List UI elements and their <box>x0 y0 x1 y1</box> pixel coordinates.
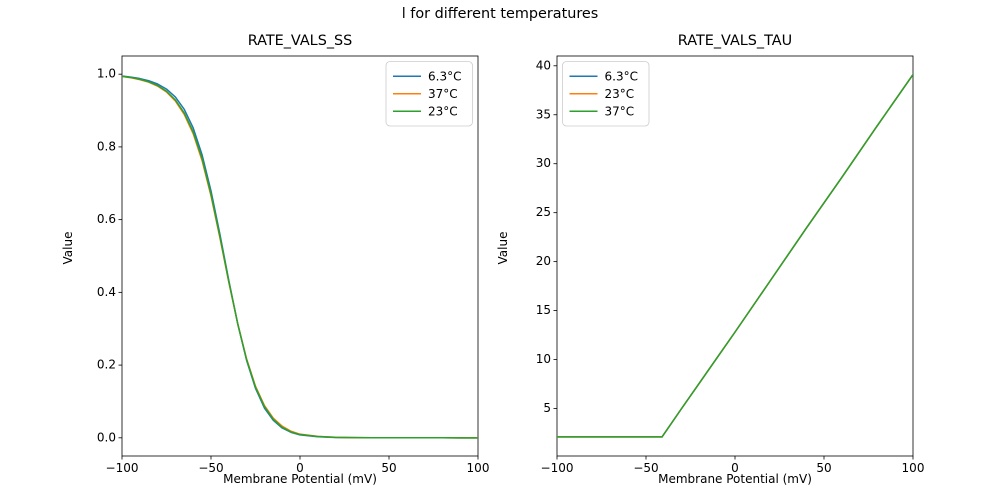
legend-label: 37°C <box>428 87 458 101</box>
series-line-23C <box>557 75 913 437</box>
data-lines <box>557 75 913 437</box>
legend-ss[interactable]: 6.3°C37°C23°C <box>386 62 473 127</box>
axes-title-ss: RATE_VALS_SS <box>122 33 478 49</box>
ytick-label: 5 <box>543 401 551 415</box>
data-lines <box>122 76 478 438</box>
ytick-label: 35 <box>536 107 551 121</box>
ytick-label: 0.8 <box>97 139 116 153</box>
ytick-label: 0.2 <box>97 358 116 372</box>
series-line-37C <box>557 75 913 437</box>
ytick-label: 0.6 <box>97 212 116 226</box>
yaxis-label-ss: Value <box>61 98 75 398</box>
legend-label: 6.3°C <box>428 69 461 83</box>
ytick-label: 20 <box>536 254 551 268</box>
matplotlib-figure: l for different temperatures RATE_VALS_S… <box>0 0 1000 500</box>
series-line-6.3C <box>122 76 478 438</box>
series-line-37C <box>122 76 478 437</box>
ytick-label: 0.4 <box>97 285 116 299</box>
ytick-label: 1.0 <box>97 67 116 81</box>
ytick-label: 30 <box>536 156 551 170</box>
figure-suptitle: l for different temperatures <box>0 6 1000 22</box>
series-line-6.3C <box>557 75 913 437</box>
ytick-label: 25 <box>536 205 551 219</box>
xaxis-label-tau: Membrane Potential (mV) <box>557 472 913 486</box>
series-line-23C <box>122 76 478 437</box>
ytick-label: 15 <box>536 303 551 317</box>
yaxis-label-tau: Value <box>496 98 510 398</box>
legend-label: 6.3°C <box>605 69 638 83</box>
ytick-label: 0.0 <box>97 430 116 444</box>
legend-label: 23°C <box>605 87 635 101</box>
axes-tau: −100−500501005101520253035406.3°C23°C37°… <box>536 56 925 475</box>
xaxis-label-ss: Membrane Potential (mV) <box>122 472 478 486</box>
axes-ss: −100−500501000.00.20.40.60.81.06.3°C37°C… <box>97 56 490 475</box>
legend-tau[interactable]: 6.3°C23°C37°C <box>563 62 650 127</box>
ytick-label: 10 <box>536 352 551 366</box>
legend-label: 23°C <box>428 104 458 118</box>
axes-title-tau: RATE_VALS_TAU <box>557 33 913 49</box>
ytick-label: 40 <box>536 58 551 72</box>
legend-label: 37°C <box>605 104 635 118</box>
